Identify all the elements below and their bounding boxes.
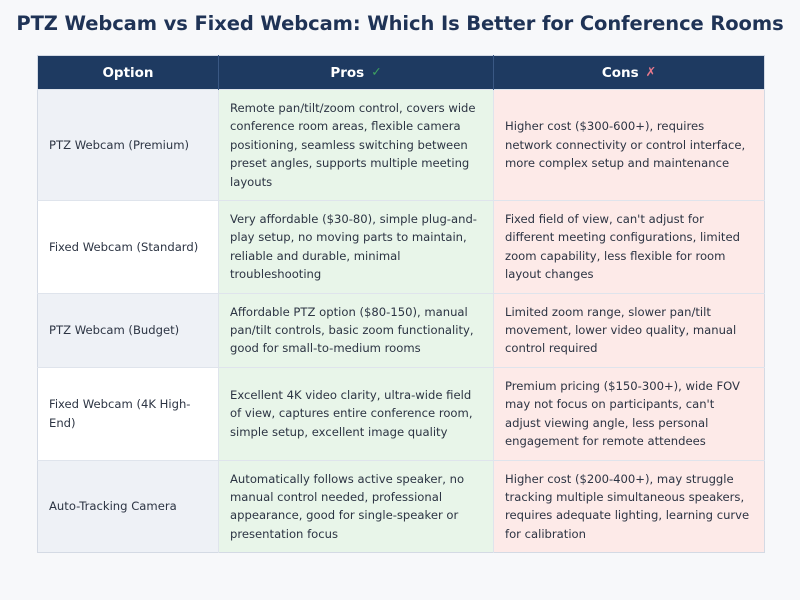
column-header-cons[interactable]: Cons ✗	[494, 56, 765, 90]
table-row: PTZ Webcam (Premium) Remote pan/tilt/zoo…	[38, 90, 765, 201]
cell-cons: Fixed field of view, can't adjust for di…	[494, 201, 765, 294]
table-header-row: Option Pros ✓ Cons ✗	[38, 56, 765, 90]
cell-cons: Higher cost ($200-400+), may struggle tr…	[494, 460, 765, 553]
cell-option: Fixed Webcam (4K High-End)	[38, 367, 219, 460]
cell-pros: Remote pan/tilt/zoom control, covers wid…	[219, 90, 494, 201]
column-header-option-label: Option	[102, 65, 153, 81]
cell-pros: Automatically follows active speaker, no…	[219, 460, 494, 553]
comparison-table-container: Option Pros ✓ Cons ✗	[37, 55, 764, 553]
cell-pros: Excellent 4K video clarity, ultra-wide f…	[219, 367, 494, 460]
cell-cons: Premium pricing ($150-300+), wide FOV ma…	[494, 367, 765, 460]
column-header-option[interactable]: Option	[38, 56, 219, 90]
table-body: PTZ Webcam (Premium) Remote pan/tilt/zoo…	[38, 90, 765, 553]
table-row: Fixed Webcam (4K High-End) Excellent 4K …	[38, 367, 765, 460]
cell-option: PTZ Webcam (Premium)	[38, 90, 219, 201]
cell-option: PTZ Webcam (Budget)	[38, 293, 219, 367]
cell-pros: Very affordable ($30-80), simple plug-an…	[219, 201, 494, 294]
check-icon: ✓	[371, 66, 381, 79]
table-row: Fixed Webcam (Standard) Very affordable …	[38, 201, 765, 294]
table-header: Option Pros ✓ Cons ✗	[38, 56, 765, 90]
page-root: PTZ Webcam vs Fixed Webcam: Which Is Bet…	[0, 0, 800, 600]
cell-option: Auto-Tracking Camera	[38, 460, 219, 553]
column-header-pros[interactable]: Pros ✓	[219, 56, 494, 90]
column-header-pros-label: Pros	[330, 65, 364, 81]
table-row: PTZ Webcam (Budget) Affordable PTZ optio…	[38, 293, 765, 367]
column-header-cons-label: Cons	[602, 65, 639, 81]
cell-cons: Limited zoom range, slower pan/tilt move…	[494, 293, 765, 367]
comparison-table: Option Pros ✓ Cons ✗	[37, 55, 765, 553]
table-row: Auto-Tracking Camera Automatically follo…	[38, 460, 765, 553]
page-title: PTZ Webcam vs Fixed Webcam: Which Is Bet…	[0, 11, 800, 37]
cell-option: Fixed Webcam (Standard)	[38, 201, 219, 294]
cross-icon: ✗	[646, 66, 656, 79]
cell-pros: Affordable PTZ option ($80-150), manual …	[219, 293, 494, 367]
cell-cons: Higher cost ($300-600+), requires networ…	[494, 90, 765, 201]
